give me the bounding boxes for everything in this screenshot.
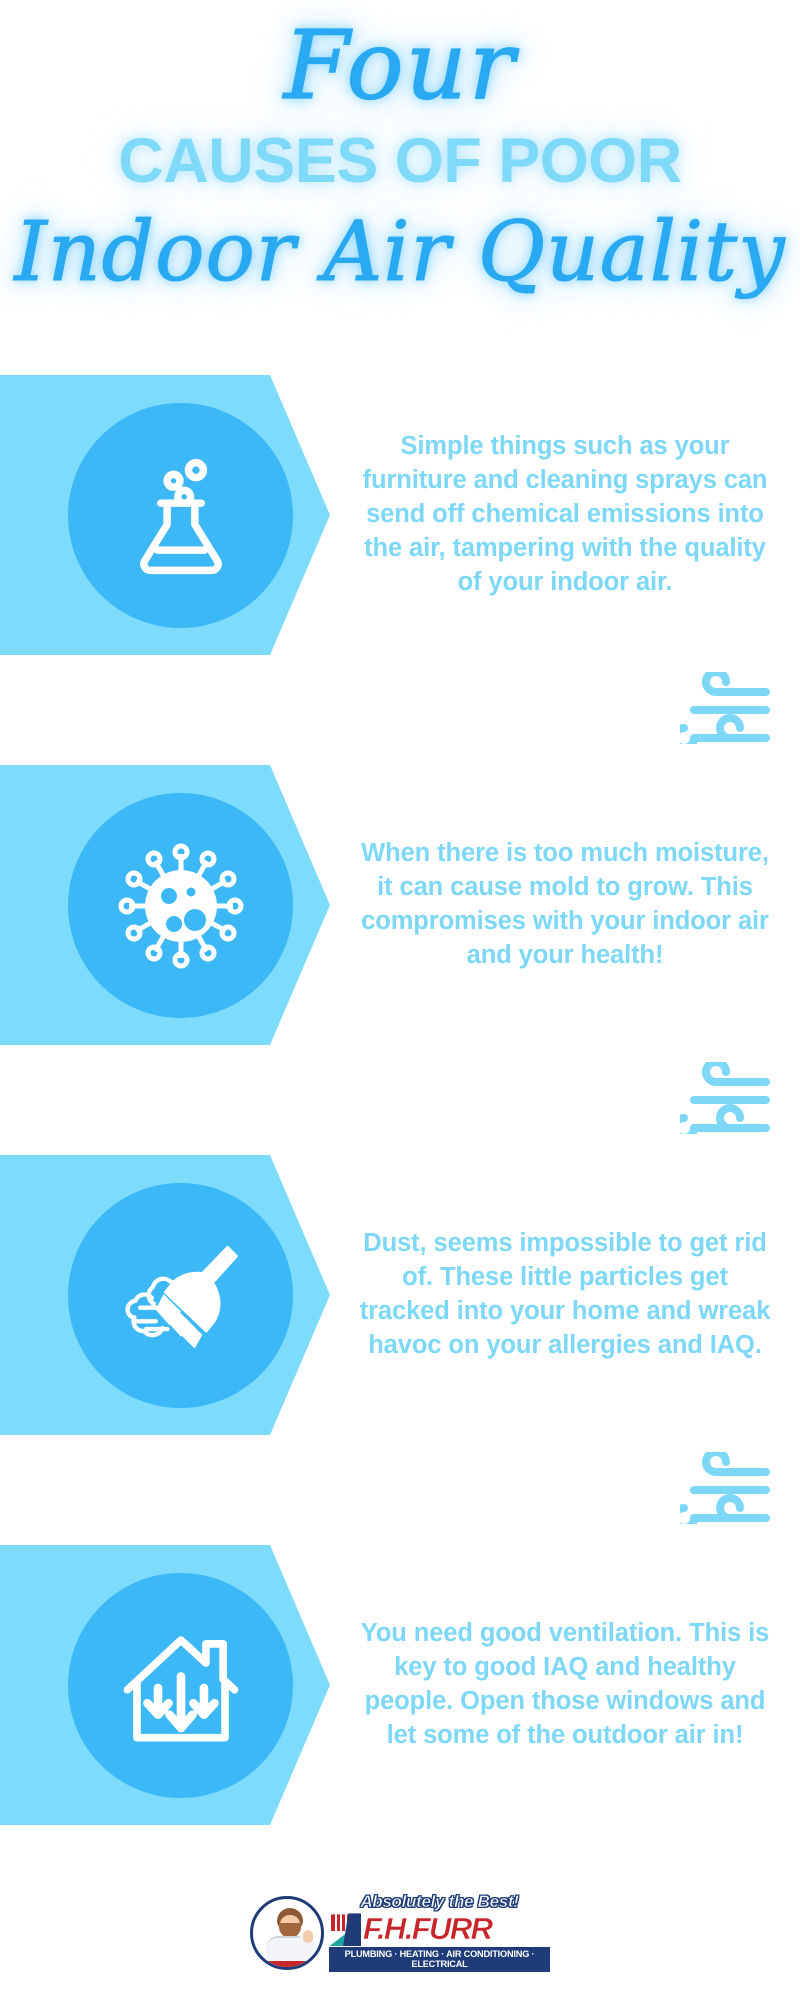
house-ventilation-icon	[68, 1573, 293, 1798]
section-body-text: You need good ventilation. This is key t…	[350, 1545, 780, 1825]
company-logo[interactable]: Absolutely the Best! F.H.FURR PLUMBING ·…	[0, 1880, 800, 1985]
section-chemical-emissions: Simple things such as your furniture and…	[0, 375, 800, 655]
section-ventilation: You need good ventilation. This is key t…	[0, 1545, 800, 1825]
logo-company-name: F.H.FURR	[363, 1912, 550, 1946]
wind-icon	[680, 672, 770, 744]
section-body-text: When there is too much moisture, it can …	[350, 765, 780, 1045]
wind-icon	[680, 1062, 770, 1134]
section-body-text: Simple things such as your furniture and…	[350, 375, 780, 655]
logo-tagline: Absolutely the Best!	[329, 1893, 550, 1911]
title-causes-of-poor: CAUSES OF POOR	[0, 130, 800, 193]
dust-broom-icon	[68, 1183, 293, 1408]
section-dust-particles: Dust, seems impossible to get rid of. Th…	[0, 1155, 800, 1435]
wind-icon	[680, 1452, 770, 1524]
fhfurr-mark-icon	[329, 1912, 363, 1946]
logo-services-line: PLUMBING · HEATING · AIR CONDITIONING · …	[329, 1947, 550, 1971]
title-script-indoor-air-quality: Indoor Air Quality	[0, 210, 800, 296]
mascot-avatar-icon	[250, 1896, 324, 1970]
chemical-flask-icon	[68, 403, 293, 628]
section-body-text: Dust, seems impossible to get rid of. Th…	[350, 1155, 780, 1435]
section-mold-moisture: When there is too much moisture, it can …	[0, 765, 800, 1045]
title-script-four: Four	[0, 18, 800, 115]
mold-virus-icon	[68, 793, 293, 1018]
infographic-header: Four CAUSES OF POOR Indoor Air Quality	[0, 0, 800, 368]
